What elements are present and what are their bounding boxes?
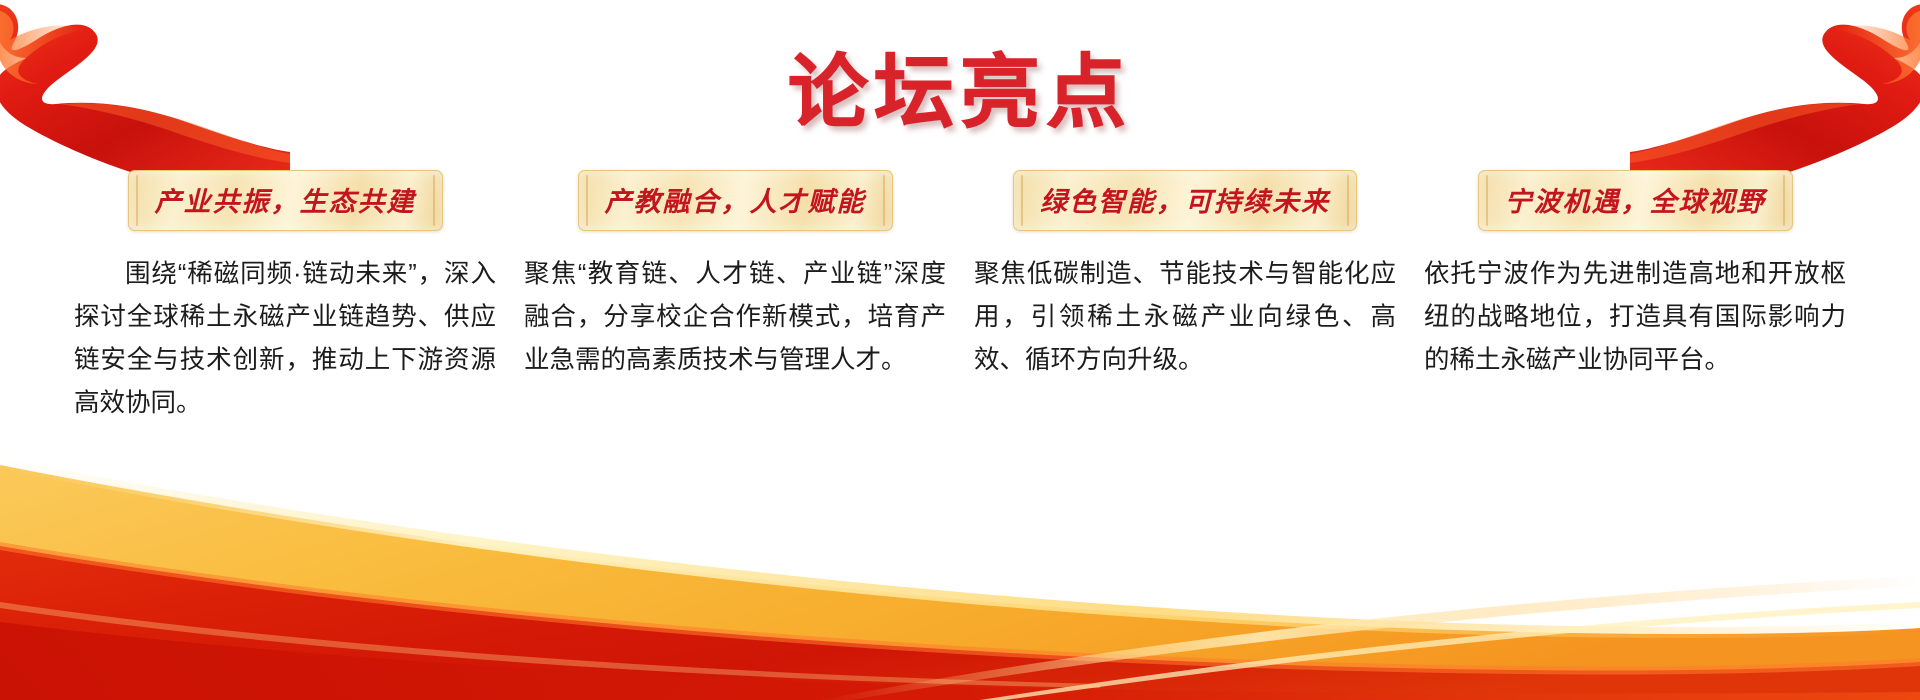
highlight-column-1: 产业共振，生态共建 围绕“稀磁同频·链动未来”，深入探讨全球稀土永磁产业链趋势、… [60,170,510,425]
page-title: 论坛亮点 [788,28,1132,144]
poster-canvas: 论坛亮点 产业共振，生态共建 围绕“稀磁同频·链动未来”，深入探讨全球稀土永磁产… [0,0,1920,700]
highlight-badge-1: 产业共振，生态共建 [128,170,443,231]
highlight-text-3: 聚焦低碳制造、节能技术与智能化应用，引领稀土永磁产业向绿色、高效、循环方向升级。 [974,253,1396,382]
highlights-row: 产业共振，生态共建 围绕“稀磁同频·链动未来”，深入探讨全球稀土永磁产业链趋势、… [60,170,1860,425]
highlight-badge-label-2: 产教融合，人才赋能 [605,187,866,217]
highlight-text-4: 依托宁波作为先进制造高地和开放枢纽的战略地位，打造具有国际影响力的稀土永磁产业协… [1424,253,1846,382]
page-title-wrapper: 论坛亮点 [0,28,1920,144]
highlight-badge-4: 宁波机遇，全球视野 [1478,170,1793,231]
highlight-text-1: 围绕“稀磁同频·链动未来”，深入探讨全球稀土永磁产业链趋势、供应链安全与技术创新… [74,253,496,425]
highlight-badge-3: 绿色智能，可持续未来 [1013,170,1357,231]
highlight-column-4: 宁波机遇，全球视野 依托宁波作为先进制造高地和开放枢纽的战略地位，打造具有国际影… [1410,170,1860,425]
highlight-badge-label-3: 绿色智能，可持续未来 [1040,187,1330,217]
highlight-badge-label-4: 宁波机遇，全球视野 [1505,187,1766,217]
highlight-text-2: 聚焦“教育链、人才链、产业链”深度融合，分享校企合作新模式，培育产业急需的高素质… [524,253,946,382]
highlight-badge-2: 产教融合，人才赋能 [578,170,893,231]
highlight-column-2: 产教融合，人才赋能 聚焦“教育链、人才链、产业链”深度融合，分享校企合作新模式，… [510,170,960,425]
highlight-column-3: 绿色智能，可持续未来 聚焦低碳制造、节能技术与智能化应用，引领稀土永磁产业向绿色… [960,170,1410,425]
highlight-badge-label-1: 产业共振，生态共建 [155,187,416,217]
